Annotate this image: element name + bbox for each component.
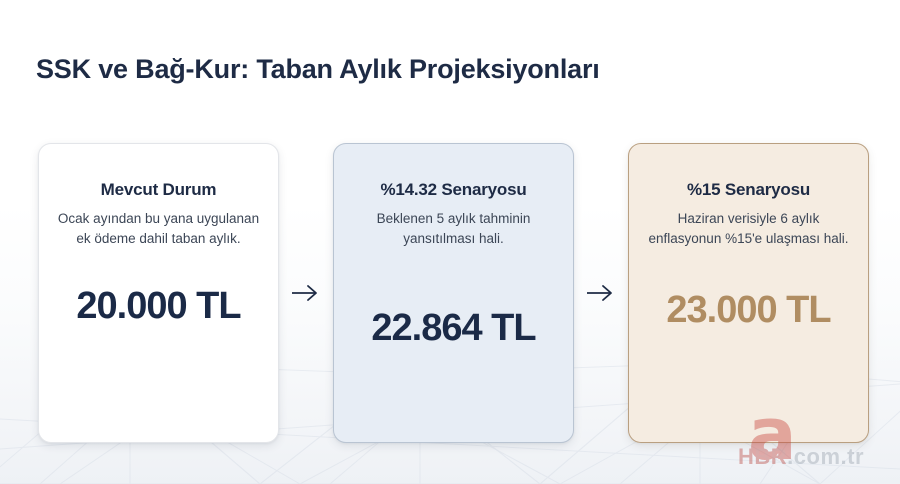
card-value: 23.000 TL [645,291,852,329]
card-title: Mevcut Durum [55,180,262,200]
watermark-site-label: HBR.com.tr [738,444,864,470]
card-description: Haziran verisiyle 6 aylık enflasyonun %1… [645,209,852,248]
infographic-canvas: SSK ve Bağ-Kur: Taban Aylık Projeksiyonl… [0,0,900,484]
arrow-right-icon [279,143,333,443]
card-value: 22.864 TL [350,309,557,347]
card-value: 20.000 TL [55,287,262,325]
card-description: Ocak ayından bu yana uygulanan ek ödeme … [55,209,262,248]
card-title: %15 Senaryosu [645,180,852,200]
page-title: SSK ve Bağ-Kur: Taban Aylık Projeksiyonl… [36,54,600,85]
card-description: Beklenen 5 aylık tahminin yansıtılması h… [350,209,557,248]
watermark-site-bold: HBR [738,444,787,469]
scenario-card-mevcut-durum[interactable]: Mevcut Durum Ocak ayından bu yana uygula… [38,143,279,443]
card-title: %14.32 Senaryosu [350,180,557,200]
scenario-card-15[interactable]: %15 Senaryosu Haziran verisiyle 6 aylık … [628,143,869,443]
watermark-site-rest: .com.tr [787,444,864,469]
scenario-card-1432[interactable]: %14.32 Senaryosu Beklenen 5 aylık tahmin… [333,143,574,443]
scenario-card-row: Mevcut Durum Ocak ayından bu yana uygula… [0,143,900,443]
arrow-right-icon [574,143,628,443]
